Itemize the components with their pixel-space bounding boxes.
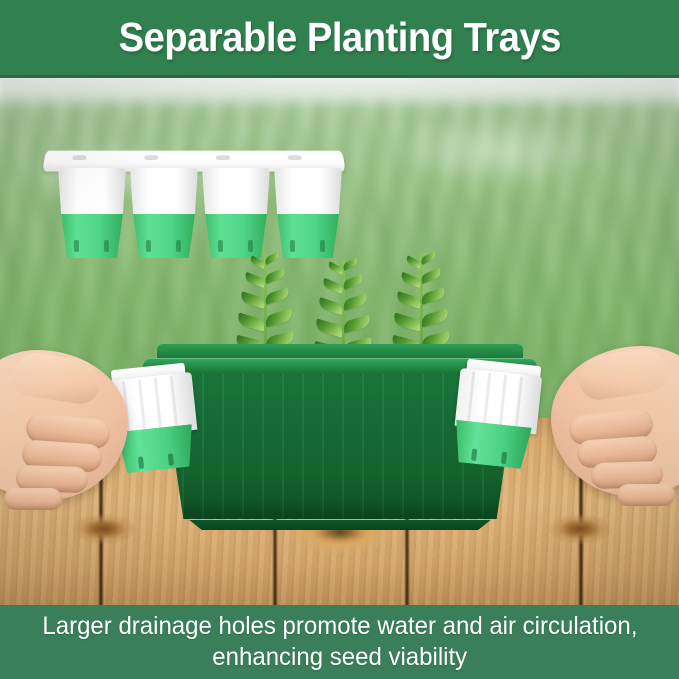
leaf-icon [239,291,266,309]
tray-cell [202,168,270,256]
cell-lower-green [277,214,339,258]
leaf-icon [263,287,290,305]
rim-hole [287,155,301,160]
cell-upper-white [130,168,198,218]
hand-finger [617,484,675,506]
leaf-icon [395,291,422,309]
hand-finger [4,488,62,510]
leaf-icon [419,287,446,305]
leaf-icon [341,293,368,311]
tray-foot [183,520,497,530]
cell-lower-green [205,214,267,258]
separated-four-cell-strip [44,150,344,270]
cell-lower-green [61,214,123,258]
cell-upper-white [274,168,342,218]
leaf-icon [317,297,344,315]
drainage-hole-icon [218,240,223,252]
rim-hole [144,155,158,160]
leaf-icon [419,268,442,284]
drainage-hole-icon [176,240,181,252]
page-title: Separable Planting Trays [118,14,560,61]
cell-lower-green [133,214,195,258]
header-banner: Separable Planting Trays [0,0,679,78]
tray-cell [274,168,342,256]
drainage-hole-icon [104,240,109,252]
left-hand [0,350,160,540]
leaf-icon [419,309,450,328]
drainage-hole-icon [146,240,151,252]
drainage-hole-icon [320,240,325,252]
product-scene [0,78,679,605]
leaf-icon [263,268,286,284]
rim-hole [216,155,230,160]
rim-hole [72,155,87,160]
footer-caption-line-2: enhancing seed viability [212,642,467,673]
tray-cell [130,168,198,256]
leaf-icon [392,313,423,332]
cell-upper-white [202,168,270,218]
leaf-icon [263,309,294,328]
cell-upper-white [58,168,126,218]
leaf-icon [341,274,364,290]
product-promo-card: Separable Planting Trays [0,0,679,679]
footer-banner: Larger drainage holes promote water and … [0,605,679,679]
drainage-hole-icon [248,240,253,252]
leaf-icon [236,313,267,332]
drainage-hole-icon [290,240,295,252]
tray-cell [58,168,126,256]
right-hand [519,346,679,536]
drainage-hole-icon [74,240,79,252]
footer-caption-line-1: Larger drainage holes promote water and … [42,611,637,642]
leaf-icon [314,319,345,338]
leaf-icon [341,315,372,334]
